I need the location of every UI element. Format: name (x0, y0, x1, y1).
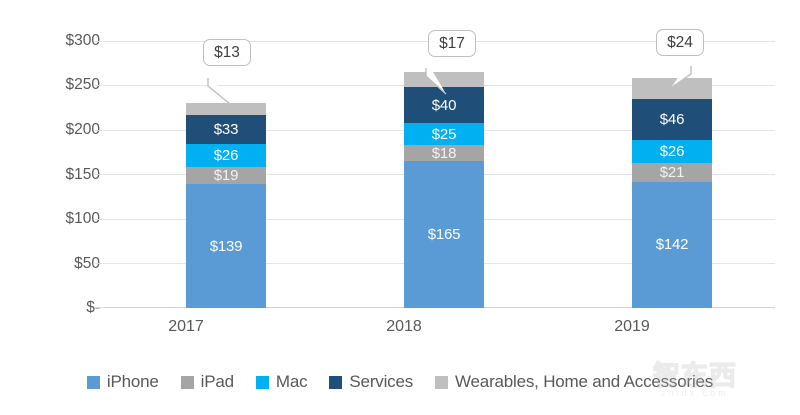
segment-label-2019-ipad: $21 (660, 165, 684, 180)
segment-2018-ipad[interactable]: $18 (404, 145, 484, 161)
segment-2017-ipad[interactable]: $19 (186, 167, 266, 184)
segment-label-2018-mac: $25 (432, 127, 456, 142)
legend-swatch-icon-mac (256, 376, 269, 389)
callout-label-2017: $13 (214, 44, 240, 62)
segment-2019-ipad[interactable]: $21 (632, 163, 712, 182)
legend-label-wearables: Wearables, Home and Accessories (455, 372, 713, 392)
callout-label-2019: $24 (667, 34, 693, 52)
tick-150 (95, 174, 102, 175)
segment-label-2018-ipad: $18 (432, 146, 456, 161)
y-tick-200: $200 (36, 121, 100, 139)
y-tick-0: $- (36, 299, 100, 317)
tick-50 (95, 263, 102, 264)
x-tick-2019: 2019 (592, 318, 672, 336)
segment-label-2018-iphone: $165 (428, 227, 461, 242)
segment-label-2019-iphone: $142 (656, 237, 689, 252)
callout-2019-wearables[interactable]: $24 (656, 29, 704, 56)
y-tick-250: $250 (36, 76, 100, 94)
callout-2017-wearables[interactable]: $13 (203, 39, 251, 66)
segment-2017-mac[interactable]: $26 (186, 144, 266, 167)
segment-label-2019-services: $46 (660, 112, 684, 127)
legend-label-iphone: iPhone (107, 372, 159, 392)
legend-label-services: Services (349, 372, 413, 392)
y-tick-50: $50 (36, 255, 100, 273)
callout-2018-wearables[interactable]: $17 (428, 30, 476, 57)
segment-2019-mac[interactable]: $26 (632, 140, 712, 163)
legend-label-mac: Mac (276, 372, 308, 392)
segment-label-2018-services: $40 (432, 98, 456, 113)
stacked-bar-2019[interactable]: $46 $26 $21 $142 (632, 78, 712, 308)
tick-300 (95, 41, 102, 42)
legend-swatch-icon-ipad (181, 376, 194, 389)
x-tick-2017: 2017 (146, 318, 226, 336)
legend-item-iphone[interactable]: iPhone (87, 372, 159, 392)
x-tick-2018: 2018 (364, 318, 444, 336)
segment-2018-mac[interactable]: $25 (404, 123, 484, 145)
y-tick-150: $150 (36, 166, 100, 184)
y-tick-300: $300 (36, 32, 100, 50)
segment-label-2017-mac: $26 (214, 148, 238, 163)
stacked-bar-chart: Revenue (In Billions) $300 $250 $200 $15… (0, 0, 800, 415)
legend-swatch-icon-wearables (435, 376, 448, 389)
y-tick-100: $100 (36, 210, 100, 228)
chart-legend: iPhone iPad Mac Services Wearables, Home… (0, 362, 800, 402)
tick-0 (95, 307, 102, 308)
segment-2017-services[interactable]: $33 (186, 115, 266, 144)
tick-200 (95, 130, 102, 131)
segment-label-2017-ipad: $19 (214, 168, 238, 183)
legend-item-services[interactable]: Services (329, 372, 413, 392)
segment-2019-iphone[interactable]: $142 (632, 182, 712, 308)
legend-item-ipad[interactable]: iPad (181, 372, 234, 392)
legend-swatch-icon-services (329, 376, 342, 389)
segment-2017-iphone[interactable]: $139 (186, 184, 266, 308)
y-axis-tick-labels: $300 $250 $200 $150 $100 $50 $- (36, 0, 100, 415)
stacked-bar-2018[interactable]: $40 $25 $18 $165 (404, 72, 484, 308)
legend-swatch-icon-iphone (87, 376, 100, 389)
segment-label-2019-mac: $26 (660, 144, 684, 159)
legend-label-ipad: iPad (201, 372, 234, 392)
segment-2018-iphone[interactable]: $165 (404, 161, 484, 308)
stacked-bar-2017[interactable]: $33 $26 $19 $139 (186, 103, 266, 308)
callout-label-2018: $17 (439, 35, 465, 53)
segment-2019-services[interactable]: $46 (632, 99, 712, 140)
segment-label-2017-services: $33 (214, 122, 238, 137)
tick-100 (95, 219, 102, 220)
legend-item-wearables[interactable]: Wearables, Home and Accessories (435, 372, 713, 392)
legend-item-mac[interactable]: Mac (256, 372, 308, 392)
segment-label-2017-iphone: $139 (210, 239, 243, 254)
callout-tail-2018 (418, 50, 464, 98)
tick-250 (95, 85, 102, 86)
